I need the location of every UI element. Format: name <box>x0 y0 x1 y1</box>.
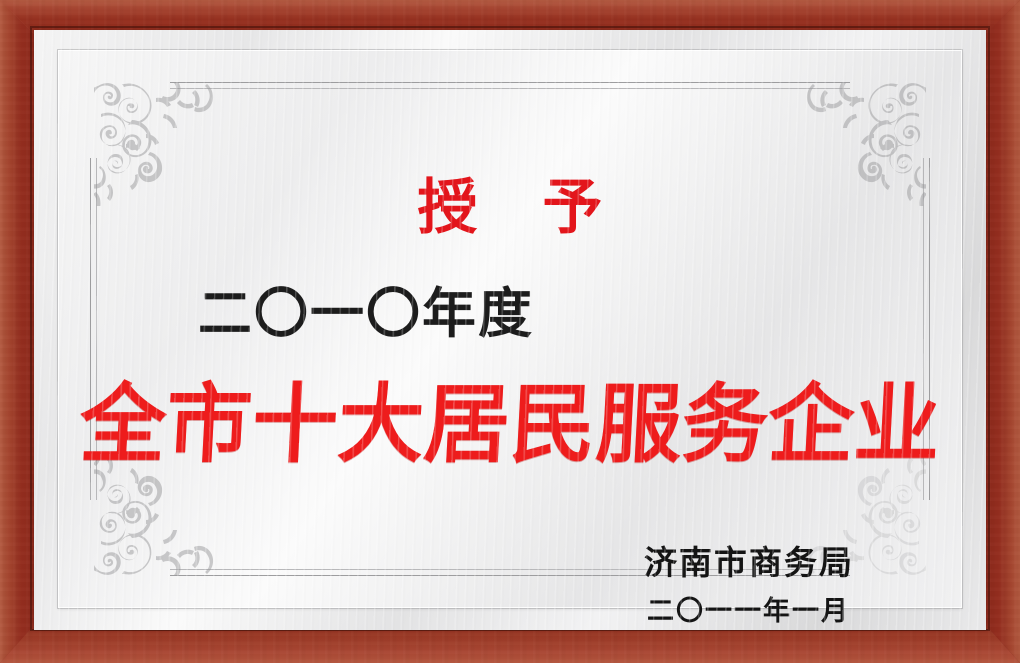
border-rule-top-1 <box>170 82 850 83</box>
border-rule-top-2 <box>170 88 850 89</box>
issuer-name-text: 济南市商务局 <box>644 546 854 579</box>
award-plaque: 授 予 二〇一〇年度 全市十大居民服务企业 济南市商务局 二〇一一年一月 <box>0 0 1020 663</box>
award-year-text: 二〇一〇年度 <box>198 284 534 343</box>
award-verb-text: 授 予 <box>58 178 962 238</box>
award-title-text: 全市十大居民服务企业 <box>56 382 965 468</box>
engraved-panel: 授 予 二〇一〇年度 全市十大居民服务企业 济南市商务局 二〇一一年一月 <box>58 50 962 608</box>
metal-plate: 授 予 二〇一〇年度 全市十大居民服务企业 济南市商务局 二〇一一年一月 <box>34 30 986 630</box>
issue-date-text: 二〇一一年一月 <box>647 598 850 625</box>
